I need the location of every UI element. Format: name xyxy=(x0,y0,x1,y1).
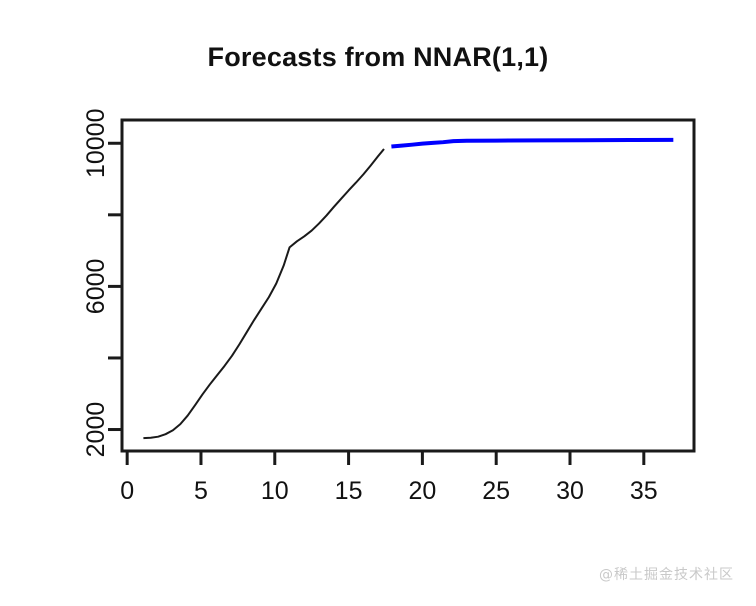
chart-figure: Forecasts from NNAR(1,1) 051015202530352… xyxy=(0,0,756,606)
x-tick-label-35: 35 xyxy=(630,477,658,505)
series-layer xyxy=(143,140,673,438)
axes-layer xyxy=(108,120,694,465)
plot-frame xyxy=(122,120,694,451)
series-line-historical xyxy=(143,149,384,438)
x-tick-label-0: 0 xyxy=(120,477,134,505)
x-tick-label-10: 10 xyxy=(261,477,289,505)
y-tick-label-2000: 2000 xyxy=(82,402,110,458)
watermark-text: @稀土掘金技术社区 xyxy=(599,564,734,584)
x-tick-label-5: 5 xyxy=(194,477,208,505)
series-line-forecast xyxy=(391,140,673,147)
y-tick-label-6000: 6000 xyxy=(82,259,110,315)
x-tick-label-25: 25 xyxy=(482,477,510,505)
y-tick-label-10000: 10000 xyxy=(82,108,110,178)
x-tick-label-30: 30 xyxy=(556,477,584,505)
x-tick-label-20: 20 xyxy=(408,477,436,505)
chart-plot-area: 051015202530352000600010000 xyxy=(0,0,756,606)
x-tick-label-15: 15 xyxy=(335,477,363,505)
